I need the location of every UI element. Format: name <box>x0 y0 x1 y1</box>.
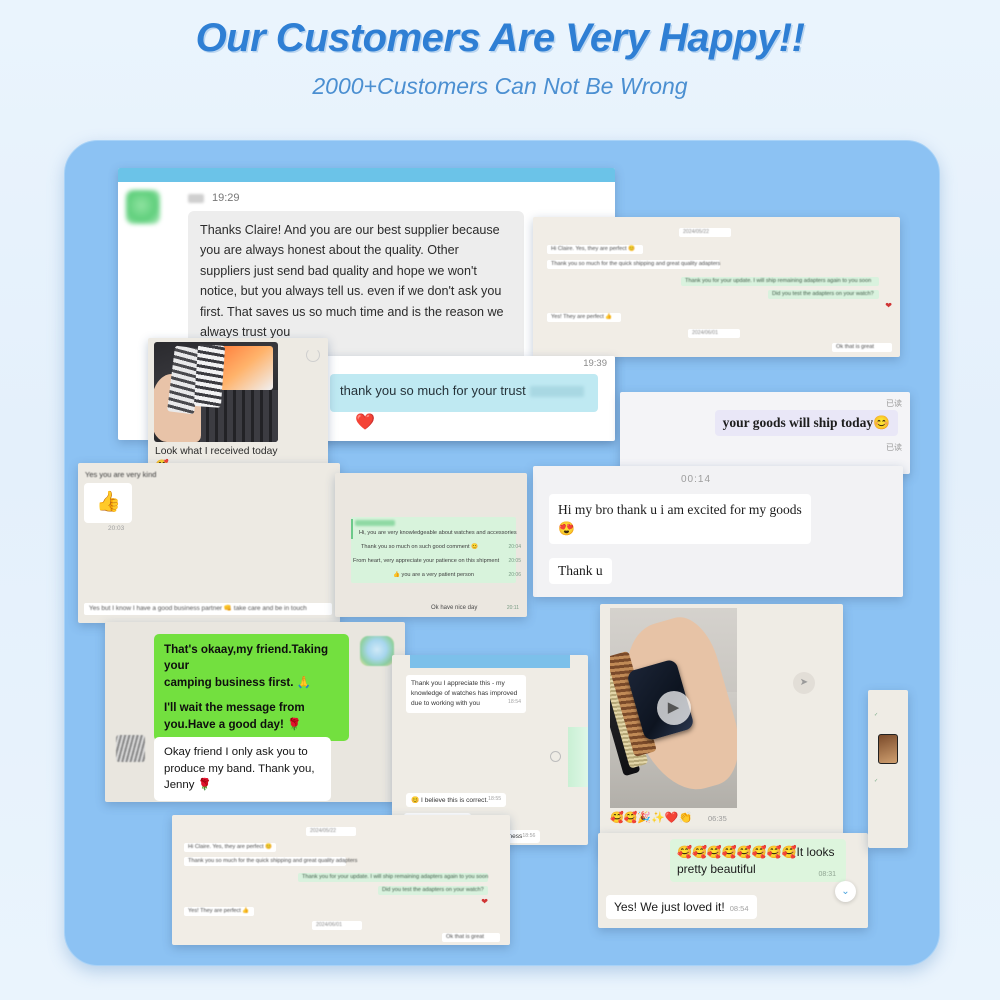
outgoing-green-bubble: That's okaay,my friend.Taking your campi… <box>154 634 349 741</box>
pray-emoji: 🙏 <box>297 676 311 689</box>
green-line-1: Hi, you are very knowledgeable about wat… <box>359 530 517 536</box>
bro-message-text: Hi my bro thank u i am excited for my go… <box>558 502 802 517</box>
chat-line-outgoing: Did you test the adapters on your watch? <box>378 886 488 895</box>
knowledge-line-2: knowledge of watches has improved <box>411 689 521 699</box>
green-last-line: Ok have nice day <box>431 605 477 611</box>
camp-line-3: I'll wait the message from <box>164 700 339 716</box>
kind-message-text: Yes you are very kind <box>85 470 156 479</box>
wechat-card-bottom-left[interactable]: 2024/05/22 Hi Claire. Yes, they are perf… <box>172 815 510 945</box>
photo-caption: Look what I received today <box>155 446 278 457</box>
green-time-3: 20:06 <box>508 572 521 578</box>
chat-line: Thank you so much for the quick shipping… <box>184 857 346 866</box>
scroll-down-icon[interactable]: ⌄ <box>835 881 856 902</box>
received-bands-photo[interactable] <box>154 342 278 442</box>
chat-line: Ok that is great <box>832 343 892 352</box>
celebration-emojis: 🥰🥰🥰🥰🥰🥰🥰🥰 <box>677 845 797 859</box>
correct-bubble: 😊 I believe this is correct.18:55 <box>406 793 506 807</box>
message-time: 19:29 <box>212 192 240 204</box>
message-text: Thanks Claire! And you are our best supp… <box>200 223 504 339</box>
avatar <box>116 735 145 762</box>
incoming-white-bubble: Okay friend I only ask you to produce my… <box>154 737 331 801</box>
green-line-3: From heart, very appreciate your patienc… <box>353 558 499 564</box>
date-chip: 2024/05/22 <box>306 827 356 836</box>
chat-header-bar <box>118 168 615 182</box>
camp-reply-3: Jenny 🌹 <box>164 777 321 794</box>
loved-it-time: 08:54 <box>730 904 749 913</box>
knowledge-line-3: due to working with you18:54 <box>411 699 521 709</box>
loved-it-text: Yes! We just loved it! <box>614 900 725 914</box>
read-mark: ✓ <box>874 778 878 784</box>
video-thumbnail[interactable]: ▶ <box>610 608 737 808</box>
read-mark: ✓ <box>874 712 878 718</box>
video-time: 06:35 <box>708 814 727 823</box>
play-button-icon[interactable]: ▶ <box>657 691 691 725</box>
name-masked <box>355 520 395 526</box>
loading-spinner-icon <box>550 751 561 762</box>
read-receipt: 已读 <box>886 442 902 453</box>
heart-reaction-icon: ❤️ <box>355 412 375 432</box>
green-bubble-edge <box>568 727 588 787</box>
emoji-reaction-row: 🥰🥰🎉✨❤️👏 <box>610 811 692 824</box>
partner-message-line: Yes but I know I have a good business pa… <box>84 603 332 615</box>
pretty-beautiful-card[interactable]: 🥰🥰🥰🥰🥰🥰🥰🥰It looks pretty beautiful 08:31 … <box>598 833 868 928</box>
pretty-green-time: 08:31 <box>818 870 836 880</box>
photo-thumbnail[interactable] <box>878 734 898 764</box>
heart-eyes-emoji: 😍 <box>558 521 575 536</box>
knowledge-bubble: Thank you I appreciate this - my knowled… <box>406 675 526 713</box>
thumbs-up-icon: 👍 <box>96 489 121 514</box>
knowledge-line-1: Thank you I appreciate this - my <box>411 679 521 689</box>
chat-line-outgoing: Thank you for your update. I will ship r… <box>681 277 879 286</box>
chat-line: Yes! They are perfect 👍 <box>184 907 254 916</box>
quote-bar <box>351 519 353 539</box>
pretty-text-2: pretty beautiful <box>677 861 839 878</box>
trust-message-bubble: thank you so much for your trust <box>330 374 598 412</box>
ship-today-text: your goods will ship today <box>723 415 874 430</box>
date-chip: 2024/05/22 <box>679 228 731 237</box>
chat-line: Hi Claire. Yes, they are perfect 😊 <box>184 843 276 852</box>
wrist-video-card[interactable]: ▶ 🥰🥰🎉✨❤️👏 06:35 ➤ <box>600 604 843 856</box>
pretty-green-bubble: 🥰🥰🥰🥰🥰🥰🥰🥰It looks pretty beautiful 08:31 <box>670 839 846 882</box>
pretty-text-1: It looks <box>797 845 835 859</box>
contact-row: 19:29 <box>188 192 601 204</box>
ship-today-bubble: your goods will ship today😊 <box>715 410 898 436</box>
thumbs-up-card[interactable]: Yes you are very kind 👍 20:03 Yes but I … <box>78 463 340 623</box>
heart-reaction-icon: ❤ <box>481 897 488 906</box>
hi-my-bro-card[interactable]: 00:14 Hi my bro thank u i am excited for… <box>533 466 903 597</box>
timestamp: 00:14 <box>681 474 711 485</box>
message-time: 19:39 <box>583 358 607 369</box>
chat-line: Ok that is great <box>442 933 500 942</box>
date-chip: 2024/06/01 <box>688 329 740 338</box>
name-masked <box>530 386 584 397</box>
chat-card-right-edge[interactable]: ✓ ✓ <box>868 690 908 848</box>
thumbs-up-bubble: 👍 <box>84 483 132 523</box>
read-receipt: 已读 <box>886 398 902 409</box>
page-title: Our Customers Are Very Happy!! <box>0 16 1000 61</box>
message-time: 20:03 <box>108 525 124 532</box>
wechat-green-card[interactable]: Hi, you are very knowledgeable about wat… <box>335 473 527 617</box>
rose-emoji: 🌹 <box>287 718 301 731</box>
chat-line-outgoing: Thank you for your update. I will ship r… <box>298 873 488 882</box>
camp-line-4: you.Have a good day! 🌹 <box>164 717 339 733</box>
camp-reply-1: Okay friend I only ask you to <box>164 744 321 761</box>
green-time-2: 20:05 <box>508 558 521 564</box>
thank-u-bubble: Thank u <box>549 558 612 584</box>
green-line-4: 👍 you are a very patient person <box>393 572 474 578</box>
smile-emoji: 😊 <box>873 415 890 430</box>
heart-reaction-icon: ❤ <box>885 301 892 310</box>
bro-message-bubble: Hi my bro thank u i am excited for my go… <box>549 494 811 544</box>
camping-business-card[interactable]: That's okaay,my friend.Taking your campi… <box>105 622 405 802</box>
page-header: Our Customers Are Very Happy!! 2000+Cust… <box>0 0 1000 100</box>
ship-today-card[interactable]: 已读 your goods will ship today😊 已读 <box>620 392 910 474</box>
loading-spinner-icon <box>306 348 320 362</box>
wechat-card-top-right[interactable]: 2024/05/22 Hi Claire. Yes, they are perf… <box>533 217 900 357</box>
green-last-time: 20:11 <box>507 605 519 611</box>
camp-reply-2: produce my band. Thank you, <box>164 761 321 778</box>
page-subtitle: 2000+Customers Can Not Be Wrong <box>0 73 1000 100</box>
rose-emoji: 🌹 <box>198 779 212 791</box>
chat-line-outgoing: Did you test the adapters on your watch? <box>768 290 879 299</box>
forward-icon[interactable]: ➤ <box>793 672 815 694</box>
sticker-image <box>360 636 394 666</box>
trust-message-text: thank you so much for your trust <box>340 383 526 398</box>
contact-name-masked <box>188 194 204 203</box>
trust-message-card[interactable]: 19:39 thank you so much for your trust ❤… <box>317 356 615 441</box>
green-line-2: Thank you so much on such good comment 😊 <box>361 544 478 550</box>
chat-line: Thank you so much for the quick shipping… <box>547 260 720 269</box>
date-chip: 2024/06/01 <box>312 921 362 930</box>
camp-line-2: camping business first. 🙏 <box>164 675 339 691</box>
green-time-1: 20:04 <box>508 544 521 550</box>
loved-it-bubble: Yes! We just loved it!08:54 <box>606 895 757 919</box>
camp-line-1: That's okaay,my friend.Taking your <box>164 642 339 675</box>
avatar <box>126 190 160 224</box>
photo-band-2 <box>194 344 226 408</box>
chat-line: Yes! They are perfect 👍 <box>547 313 621 322</box>
chat-line: Hi Claire. Yes, they are perfect 😊 <box>547 245 643 254</box>
chat-header-bar <box>410 655 570 668</box>
